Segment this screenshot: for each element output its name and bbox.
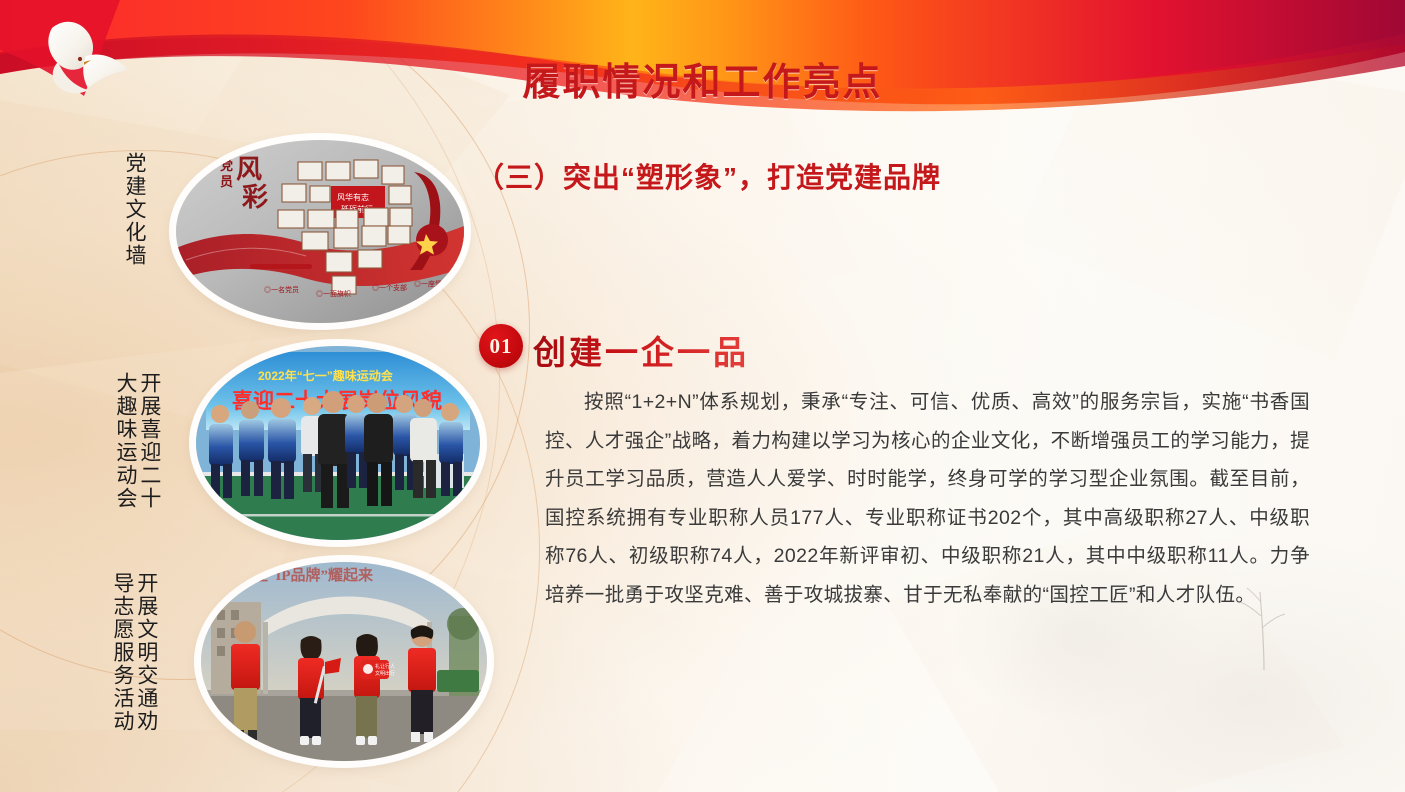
svg-text:◎一个支部: ◎一个支部	[372, 283, 407, 292]
photo-caption-culture-wall: 党建文化墙	[122, 152, 146, 267]
volunteers-image: 让“IP品牌”耀起来	[201, 562, 487, 761]
svg-text:◎一名党员: ◎一名党员	[264, 285, 299, 294]
photo-caption-sports-meeting: 开展喜迎二十大趣味运动会	[113, 372, 161, 524]
page-title: 履职情况和工作亮点	[0, 51, 1405, 106]
photo-caption-traffic-volunteers: 开展文明交通劝导志愿服务活动	[110, 572, 158, 750]
photo-party-culture-wall[interactable]: 党 员 风 彩 风华有志 砥砺前行	[176, 140, 464, 323]
svg-text:礼让行人: 礼让行人	[375, 663, 395, 670]
svg-text:风华有志: 风华有志	[337, 192, 369, 202]
svg-text:2022年“七一”趣味运动会: 2022年“七一”趣味运动会	[258, 368, 394, 383]
section-number-badge: 01	[479, 324, 523, 368]
slide-canvas: 履职情况和工作亮点 （三）突出“塑形象”，打造党建品牌	[0, 0, 1405, 792]
section-body-text: 按照“1+2+N”体系规划，秉承“专注、可信、优质、高效”的服务宗旨，实施“书香…	[545, 383, 1310, 614]
svg-text:彩: 彩	[241, 183, 268, 212]
sports-group-image: 2022年“七一”趣味运动会 喜迎二十大展岗位风貌	[196, 346, 480, 540]
photo-traffic-volunteers[interactable]: 让“IP品牌”耀起来	[201, 562, 487, 761]
svg-text:◎一面旗帜: ◎一面旗帜	[316, 289, 351, 298]
section-heading: 创建一企一品	[533, 326, 749, 374]
photo-sports-meeting[interactable]: 2022年“七一”趣味运动会 喜迎二十大展岗位风貌	[196, 346, 480, 540]
section-subtitle: （三）突出“塑形象”，打造党建品牌	[476, 156, 941, 196]
svg-text:风: 风	[236, 155, 262, 184]
svg-text:文明出行: 文明出行	[375, 670, 395, 677]
culture-wall-image: 党 员 风 彩 风华有志 砥砺前行	[176, 140, 464, 323]
svg-text:员: 员	[220, 174, 233, 189]
